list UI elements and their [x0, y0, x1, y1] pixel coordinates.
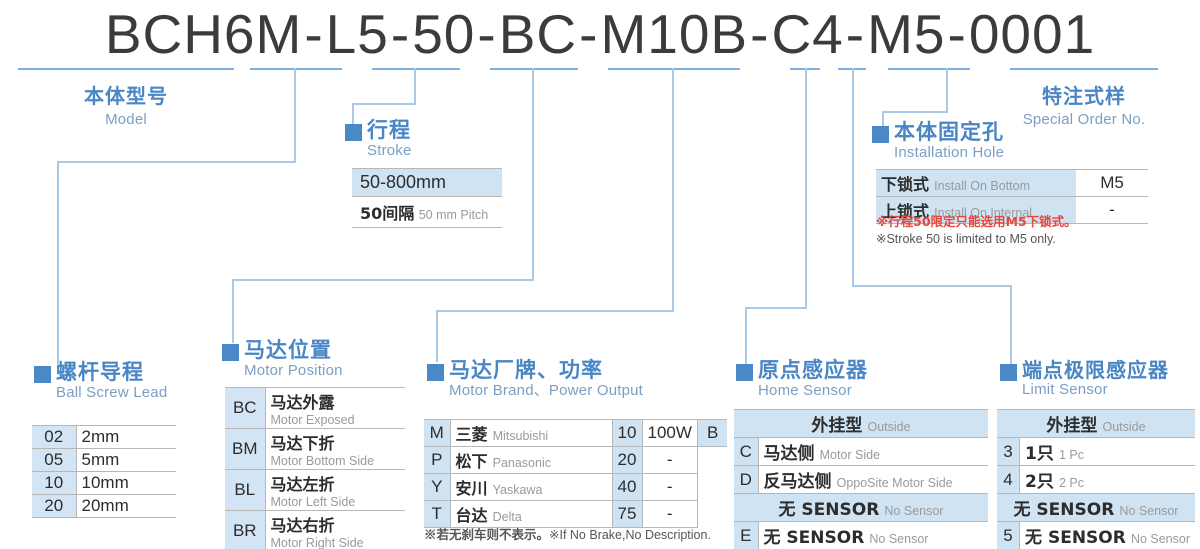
stroke-range-value: 50-800mm	[360, 172, 446, 192]
installation-hole-label-cell: 下锁式 Install On Bottom	[876, 170, 1076, 197]
motor-position-desc: 马达下折 Motor Bottom Side	[265, 429, 405, 470]
home-sensor-desc-cn: 无 SENSOR	[764, 528, 865, 548]
connector-motorbrand-v1	[672, 68, 674, 311]
motor-position-desc-cn: 马达外露	[271, 389, 401, 413]
limit-sensor-desc: 1只 1 Pc	[1020, 438, 1195, 466]
limit-sensor-desc-en: 2 Pc	[1059, 476, 1084, 490]
table-row[interactable]: 05 5mm	[32, 449, 176, 472]
home-sensor-group1-cn: 外挂型	[811, 416, 862, 436]
limit-sensor-group2-cn: 无 SENSOR	[1014, 500, 1115, 520]
table-row[interactable]: C 马达侧 Motor Side	[734, 438, 988, 466]
motor-brand-name-cn: 安川	[456, 479, 488, 498]
limit-sensor-group2-en: No Sensor	[1119, 504, 1178, 518]
table-row: 外挂型 Outside	[997, 410, 1195, 438]
ball-screw-lead-code: 20	[32, 495, 76, 518]
code-separator: -	[946, 2, 969, 66]
code-segment-motor-position: BC	[499, 2, 577, 66]
underline-special-order	[1010, 68, 1158, 70]
home-sensor-desc: 无 SENSOR No Sensor	[758, 522, 988, 549]
limit-sensor-group-outside: 外挂型 Outside	[997, 410, 1195, 438]
motor-position-code: BR	[225, 511, 265, 549]
connector-stroke-h1	[352, 103, 416, 105]
section-motor-brand-title-cn: 马达厂牌、功率	[449, 360, 643, 381]
ball-screw-lead-bullet-icon	[34, 366, 51, 383]
table-row: 外挂型 Outside	[734, 410, 988, 438]
ball-screw-lead-value: 5mm	[76, 449, 176, 472]
section-installation-hole-title-cn: 本体固定孔	[894, 122, 1004, 143]
motor-power-code: 75	[612, 501, 642, 528]
motor-power-code: 10	[612, 420, 642, 447]
table-row[interactable]: 3 1只 1 Pc	[997, 438, 1195, 466]
table-row[interactable]: T 台达 Delta 75 -	[424, 501, 727, 528]
table-row[interactable]: 4 2只 2 Pc	[997, 466, 1195, 494]
section-motor-brand-title-en: Motor Brand、Power Output	[449, 383, 643, 398]
motor-position-code: BL	[225, 470, 265, 511]
connector-limitsensor-v1	[852, 68, 854, 286]
motor-power-value: 100W	[642, 420, 697, 447]
table-row[interactable]: 02 2mm	[32, 426, 176, 449]
motor-position-bullet-icon	[222, 344, 239, 361]
ball-screw-lead-value: 10mm	[76, 472, 176, 495]
installation-hole-note-en: ※Stroke 50 is limited to M5 only.	[876, 231, 1077, 248]
connector-installhole-v1	[946, 68, 948, 112]
motor-position-desc: 马达右折 Motor Right Side	[265, 511, 405, 549]
motor-brand-name-cn: 松下	[456, 452, 488, 471]
ball-screw-lead-value: 2mm	[76, 426, 176, 449]
stroke-pitch-cn: 50间隔	[360, 204, 414, 223]
motor-brand-note: ※若无刹车则不表示。※If No Brake,No Description.	[424, 526, 711, 544]
code-separator: -	[302, 2, 325, 66]
section-special-order-title-en: Special Order No.	[1008, 111, 1160, 128]
table-row[interactable]: D 反马达侧 OppoSite Motor Side	[734, 466, 988, 494]
section-special-order: 特注式样 Special Order No.	[1008, 80, 1160, 128]
section-motor-brand: 马达厂牌、功率 Motor Brand、Power Output	[427, 360, 643, 399]
section-stroke-title-en: Stroke	[367, 143, 412, 158]
motor-position-desc-en: Motor Bottom Side	[271, 454, 401, 468]
motor-brand-name: 台达 Delta	[450, 501, 612, 528]
limit-sensor-bullet-icon	[1000, 364, 1017, 381]
home-sensor-group-outside: 外挂型 Outside	[734, 410, 988, 438]
underline-model	[18, 68, 234, 70]
limit-sensor-desc: 2只 2 Pc	[1020, 466, 1195, 494]
code-segment-install-hole: M5	[867, 2, 945, 66]
installation-hole-bullet-icon	[872, 126, 889, 143]
limit-sensor-desc-cn: 1只	[1025, 444, 1054, 464]
motor-power-value: -	[642, 501, 697, 528]
connector-homesensor-v1	[805, 68, 807, 308]
motor-power-value: -	[642, 447, 697, 474]
table-row[interactable]: Y 安川 Yaskawa 40 -	[424, 474, 727, 501]
connector-homesensor-v2	[745, 307, 747, 364]
table-row[interactable]: M 三菱 Mitsubishi 10 100W B	[424, 420, 727, 447]
ball-screw-lead-value: 20mm	[76, 495, 176, 518]
motor-power-value: -	[642, 474, 697, 501]
section-model-title-en: Model	[18, 111, 234, 128]
code-segment-motor-brand: M10B	[600, 2, 748, 66]
underline-motor-position	[490, 68, 578, 70]
motor-position-desc-cn: 马达右折	[271, 512, 401, 536]
motor-position-desc: 马达外露 Motor Exposed	[265, 388, 405, 429]
motor-brand-table: M 三菱 Mitsubishi 10 100W B P 松下 Panasonic…	[424, 419, 727, 528]
motor-brand-name-en: Delta	[493, 510, 522, 524]
motor-position-desc-cn: 马达下折	[271, 430, 401, 454]
motor-brand-note-en: ※If No Brake,No Description.	[549, 528, 711, 542]
section-model-title-cn: 本体型号	[18, 80, 234, 109]
home-sensor-group1-en: Outside	[868, 420, 911, 434]
motor-brand-code: T	[424, 501, 450, 528]
connector-motorbrand-h1	[436, 310, 674, 312]
code-segment-special-order: 0001	[969, 2, 1095, 66]
section-limit-sensor-title-cn: 端点极限感应器	[1022, 360, 1169, 380]
home-sensor-table: 外挂型 Outside C 马达侧 Motor Side D 反马达侧 Oppo…	[734, 409, 988, 549]
section-installation-hole: 本体固定孔 Installation Hole	[872, 122, 1004, 161]
table-row: 无 SENSOR No Sensor	[997, 494, 1195, 522]
stroke-bullet-icon	[345, 124, 362, 141]
home-sensor-group2-en: No Sensor	[884, 504, 943, 518]
model-code-header: BCH6M-L5-50-BC-M10B-C4-M5-0001	[0, 2, 1200, 66]
limit-sensor-group1-cn: 外挂型	[1046, 416, 1097, 436]
installation-hole-value: M5	[1076, 170, 1148, 197]
limit-sensor-code: 3	[997, 438, 1020, 466]
home-sensor-desc-cn: 马达侧	[764, 444, 815, 464]
limit-sensor-desc-en: 1 Pc	[1059, 448, 1084, 462]
motor-brand-name-cn: 三菱	[456, 425, 488, 444]
table-row[interactable]: P 松下 Panasonic 20 -	[424, 447, 727, 474]
motor-brake-code	[697, 474, 727, 501]
limit-sensor-desc-cn: 2只	[1025, 472, 1054, 492]
home-sensor-desc: 反马达侧 OppoSite Motor Side	[758, 466, 988, 494]
section-special-order-title-cn: 特注式样	[1008, 80, 1160, 109]
motor-position-desc: 马达左折 Motor Left Side	[265, 470, 405, 511]
section-ball-screw-lead-title-en: Ball Screw Lead	[56, 385, 167, 400]
installation-hole-row-en: Install On Bottom	[934, 179, 1030, 193]
motor-brake-code	[697, 447, 727, 474]
section-home-sensor-title-en: Home Sensor	[758, 383, 868, 398]
section-ball-screw-lead: 螺杆导程 Ball Screw Lead	[34, 362, 167, 401]
limit-sensor-desc-en: No Sensor	[1131, 532, 1190, 546]
home-sensor-group-no-sensor: 无 SENSOR No Sensor	[734, 494, 988, 522]
table-row: 无 SENSOR No Sensor	[734, 494, 988, 522]
connector-lead-v2	[57, 161, 59, 364]
motor-brand-name: 三菱 Mitsubishi	[450, 420, 612, 447]
underline-stroke	[372, 68, 460, 70]
ball-screw-lead-code: 02	[32, 426, 76, 449]
section-ball-screw-lead-title-cn: 螺杆导程	[56, 362, 167, 383]
table-row[interactable]: BR 马达右折 Motor Right Side	[225, 511, 405, 549]
installation-hole-row-cn: 下锁式	[881, 175, 929, 194]
stroke-pitch-en: 50 mm Pitch	[419, 208, 488, 222]
underline-lead	[250, 68, 342, 70]
motor-position-desc-en: Motor Left Side	[271, 495, 401, 509]
motor-brand-name-en: Yaskawa	[493, 483, 543, 497]
stroke-range-row[interactable]: 50-800mm	[352, 168, 502, 197]
motor-brand-code: M	[424, 420, 450, 447]
code-segment-sensors: C4	[771, 2, 843, 66]
motor-position-code: BC	[225, 388, 265, 429]
code-separator: -	[844, 2, 867, 66]
section-model: 本体型号 Model	[18, 80, 234, 128]
table-row[interactable]: 5 无 SENSOR No Sensor	[997, 522, 1195, 549]
table-row[interactable]: BM 马达下折 Motor Bottom Side	[225, 429, 405, 470]
motor-brand-name-cn: 台达	[456, 506, 488, 525]
motor-power-code: 40	[612, 474, 642, 501]
code-separator: -	[577, 2, 600, 66]
motor-brake-code: B	[697, 420, 727, 447]
motor-brand-name-en: Panasonic	[493, 456, 551, 470]
limit-sensor-desc: 无 SENSOR No Sensor	[1020, 522, 1195, 549]
connector-lead-v1	[294, 68, 296, 162]
installation-hole-note-cn: ※行程50限定只能选用M5下锁式。	[876, 214, 1077, 231]
code-separator: -	[475, 2, 498, 66]
connector-lead-h1	[57, 161, 296, 163]
home-sensor-desc-en: Motor Side	[820, 448, 880, 462]
section-motor-position: 马达位置 Motor Position	[222, 340, 343, 379]
section-limit-sensor-title-en: Limit Sensor	[1022, 382, 1169, 397]
installation-hole-notes: ※行程50限定只能选用M5下锁式。 ※Stroke 50 is limited …	[876, 214, 1077, 248]
section-home-sensor-title-cn: 原点感应器	[758, 360, 868, 381]
home-sensor-desc-en: No Sensor	[869, 532, 928, 546]
motor-position-table: BC 马达外露 Motor Exposed BM 马达下折 Motor Bott…	[225, 387, 405, 549]
underline-motor-brand	[608, 68, 740, 70]
table-row[interactable]: 下锁式 Install On Bottom M5	[876, 170, 1148, 197]
motor-brand-code: P	[424, 447, 450, 474]
table-row[interactable]: 20 20mm	[32, 495, 176, 518]
code-segment-stroke: 50	[412, 2, 475, 66]
limit-sensor-group-no-sensor: 无 SENSOR No Sensor	[997, 494, 1195, 522]
ball-screw-lead-code: 05	[32, 449, 76, 472]
section-limit-sensor: 端点极限感应器 Limit Sensor	[1000, 360, 1169, 398]
home-sensor-bullet-icon	[736, 364, 753, 381]
connector-homesensor-h1	[745, 307, 807, 309]
connector-motorpos-h1	[232, 279, 534, 281]
home-sensor-code: D	[734, 466, 758, 494]
connector-motorpos-v2	[232, 279, 234, 343]
installation-hole-value: -	[1076, 197, 1148, 224]
connector-motorbrand-v2	[436, 310, 438, 362]
limit-sensor-code: 5	[997, 522, 1020, 549]
table-row[interactable]: BC 马达外露 Motor Exposed	[225, 388, 405, 429]
code-separator: -	[748, 2, 771, 66]
section-motor-position-title-cn: 马达位置	[244, 340, 343, 361]
connector-motorpos-v1	[532, 68, 534, 280]
limit-sensor-code: 4	[997, 466, 1020, 494]
section-stroke-title-cn: 行程	[367, 120, 412, 141]
motor-brand-name: 安川 Yaskawa	[450, 474, 612, 501]
stroke-pitch-row[interactable]: 50间隔 50 mm Pitch	[352, 197, 502, 228]
motor-brand-name: 松下 Panasonic	[450, 447, 612, 474]
code-segment-model: BCH6M	[105, 2, 303, 66]
motor-position-code: BM	[225, 429, 265, 470]
connector-limitsensor-h1	[852, 285, 1012, 287]
home-sensor-group2-cn: 无 SENSOR	[779, 500, 880, 520]
limit-sensor-desc-cn: 无 SENSOR	[1025, 528, 1126, 548]
limit-sensor-group1-en: Outside	[1103, 420, 1146, 434]
connector-stroke-v1	[414, 68, 416, 104]
home-sensor-desc: 马达侧 Motor Side	[758, 438, 988, 466]
section-installation-hole-title-en: Installation Hole	[894, 145, 1004, 160]
motor-brand-note-cn: ※若无刹车则不表示。	[424, 528, 549, 542]
motor-brand-name-en: Mitsubishi	[493, 429, 549, 443]
table-row[interactable]: E 无 SENSOR No Sensor	[734, 522, 988, 549]
stroke-table: 50-800mm 50间隔 50 mm Pitch	[352, 168, 502, 228]
motor-position-desc-cn: 马达左折	[271, 471, 401, 495]
limit-sensor-table: 外挂型 Outside 3 1只 1 Pc 4 2只 2 Pc 无 SENSOR…	[997, 409, 1195, 549]
ball-screw-lead-table: 02 2mm 05 5mm 10 10mm 20 20mm	[32, 425, 176, 518]
section-stroke: 行程 Stroke	[345, 120, 412, 159]
underline-install-hole	[888, 68, 970, 70]
connector-installhole-h1	[882, 111, 948, 113]
home-sensor-code: C	[734, 438, 758, 466]
code-segment-lead: L5	[326, 2, 389, 66]
motor-brake-code	[697, 501, 727, 528]
ball-screw-lead-code: 10	[32, 472, 76, 495]
motor-brand-code: Y	[424, 474, 450, 501]
home-sensor-desc-en: OppoSite Motor Side	[837, 476, 953, 490]
motor-position-desc-en: Motor Exposed	[271, 413, 401, 427]
table-row[interactable]: BL 马达左折 Motor Left Side	[225, 470, 405, 511]
motor-position-desc-en: Motor Right Side	[271, 536, 401, 549]
section-motor-position-title-en: Motor Position	[244, 363, 343, 378]
code-separator: -	[389, 2, 412, 66]
motor-power-code: 20	[612, 447, 642, 474]
home-sensor-code: E	[734, 522, 758, 549]
table-row[interactable]: 10 10mm	[32, 472, 176, 495]
section-home-sensor: 原点感应器 Home Sensor	[736, 360, 868, 399]
motor-brand-bullet-icon	[427, 364, 444, 381]
connector-limitsensor-v2	[1010, 285, 1012, 364]
home-sensor-desc-cn: 反马达侧	[764, 472, 832, 492]
